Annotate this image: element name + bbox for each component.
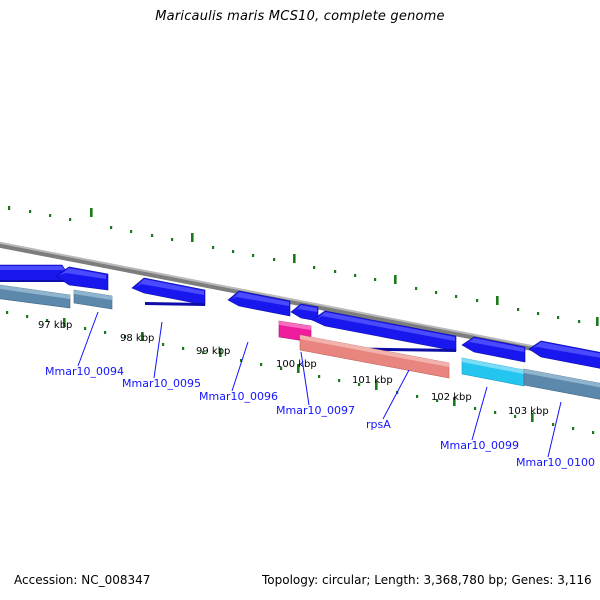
- gene-label-mmar10-0094[interactable]: Mmar10_0094: [45, 365, 124, 378]
- tick-label-102kbp: 102 kbp: [431, 392, 472, 403]
- leader-line-mmar10-0095: [154, 322, 162, 378]
- accession-label: Accession: NC_008347: [14, 573, 150, 587]
- gene-label-mmar10-0095[interactable]: Mmar10_0095: [122, 377, 201, 390]
- gene-arrow-mmar10-0096[interactable]: [228, 291, 290, 316]
- gene-bar-mmar10-0100-steel[interactable]: [524, 369, 600, 402]
- genome-viewer: Maricaulis maris MCS10, complete genome: [0, 0, 600, 600]
- leader-line-mmar10-0099: [472, 387, 487, 440]
- genome-summary-label: Topology: circular; Length: 3,368,780 bp…: [262, 573, 592, 587]
- gene-label-mmar10-0099[interactable]: Mmar10_0099: [440, 439, 519, 452]
- genome-map-canvas: 97 kbp 98 kbp 99 kbp 100 kbp 101 kbp 102…: [0, 0, 600, 600]
- gene-arrow-mmar10-0099[interactable]: [462, 337, 525, 362]
- leader-line-mmar10-0100: [548, 402, 561, 457]
- tick-label-103kbp: 103 kbp: [508, 406, 549, 417]
- tick-label-101kbp: 101 kbp: [352, 375, 393, 386]
- leader-line-mmar10-0094: [78, 312, 98, 366]
- gene-label-rpsa[interactable]: rpsA: [366, 418, 391, 431]
- tick-label-100kbp: 100 kbp: [276, 359, 317, 370]
- gene-arrow-mmar10-0100[interactable]: [529, 341, 600, 371]
- gene-arrow-mmar10-0094[interactable]: [0, 265, 68, 282]
- tick-label-98kbp: 98 kbp: [120, 333, 154, 344]
- tick-label-97kbp: 97 kbp: [38, 320, 72, 331]
- gene-arrow-mmar10-0094b[interactable]: [56, 267, 108, 290]
- leader-line-mmar10-0096: [232, 342, 248, 391]
- gene-bar-mmar10-0099-cyan[interactable]: [462, 358, 524, 386]
- tick-label-99kbp: 99 kbp: [196, 346, 230, 357]
- gene-label-mmar10-0097[interactable]: Mmar10_0097: [276, 404, 355, 417]
- gene-label-mmar10-0096[interactable]: Mmar10_0096: [199, 390, 278, 403]
- gene-label-mmar10-0100[interactable]: Mmar10_0100: [516, 456, 595, 469]
